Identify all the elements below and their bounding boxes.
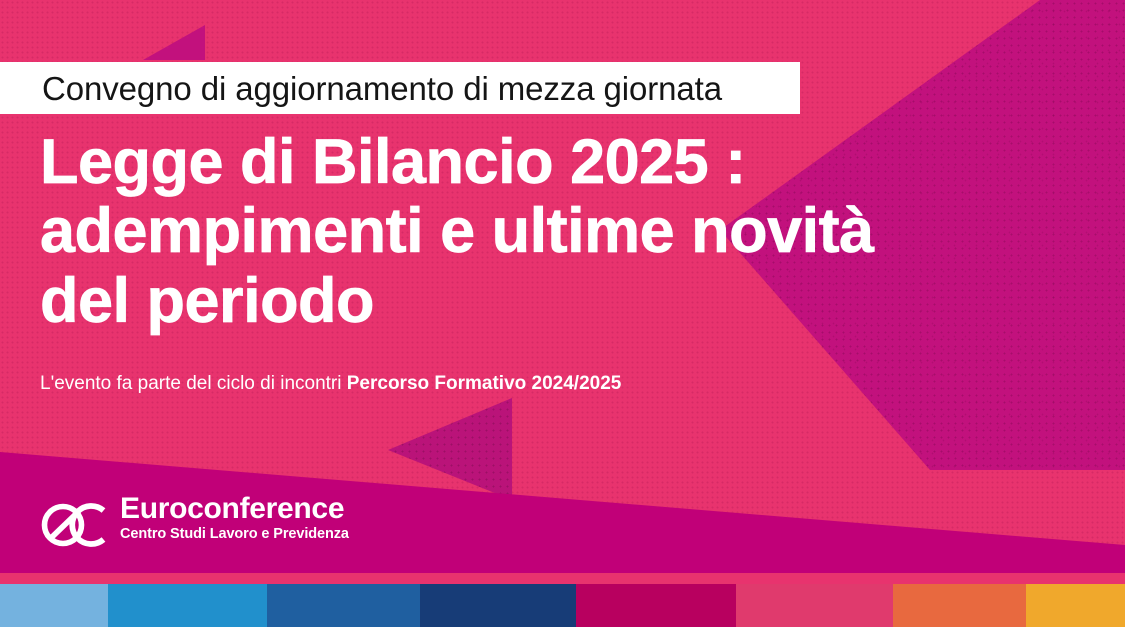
- event-banner: Convegno di aggiornamento di mezza giorn…: [0, 0, 1125, 627]
- subline-lead: L'evento fa parte del ciclo di incontri: [40, 373, 347, 394]
- swatch-light-blue: [0, 584, 108, 627]
- euroconference-logo: Euroconference Centro Studi Lavoro e Pre…: [40, 494, 349, 550]
- kicker-text: Convegno di aggiornamento di mezza giorn…: [42, 72, 722, 105]
- logo-name: Euroconference: [120, 494, 349, 525]
- swatch-medium-blue: [267, 584, 420, 627]
- color-swatch-strip: [0, 584, 1125, 627]
- swatch-azure: [108, 584, 267, 627]
- logo-wordmark: Euroconference Centro Studi Lavoro e Pre…: [120, 494, 349, 543]
- subline-program: Percorso Formativo: [347, 373, 527, 394]
- swatch-pink: [736, 584, 893, 627]
- subline-years: 2024/2025: [532, 373, 622, 394]
- swatch-orange: [893, 584, 1026, 627]
- ec-monogram-icon: [40, 494, 112, 550]
- kicker-banner: Convegno di aggiornamento di mezza giorn…: [0, 62, 800, 114]
- swatch-navy: [420, 584, 576, 627]
- program-subline: L'evento fa parte del ciclo di incontri …: [40, 374, 621, 393]
- swatch-magenta: [576, 584, 736, 627]
- swatch-amber: [1026, 584, 1125, 627]
- page-title: Legge di Bilancio 2025 : adempimenti e u…: [40, 128, 1020, 336]
- logo-tagline: Centro Studi Lavoro e Previdenza: [120, 527, 349, 543]
